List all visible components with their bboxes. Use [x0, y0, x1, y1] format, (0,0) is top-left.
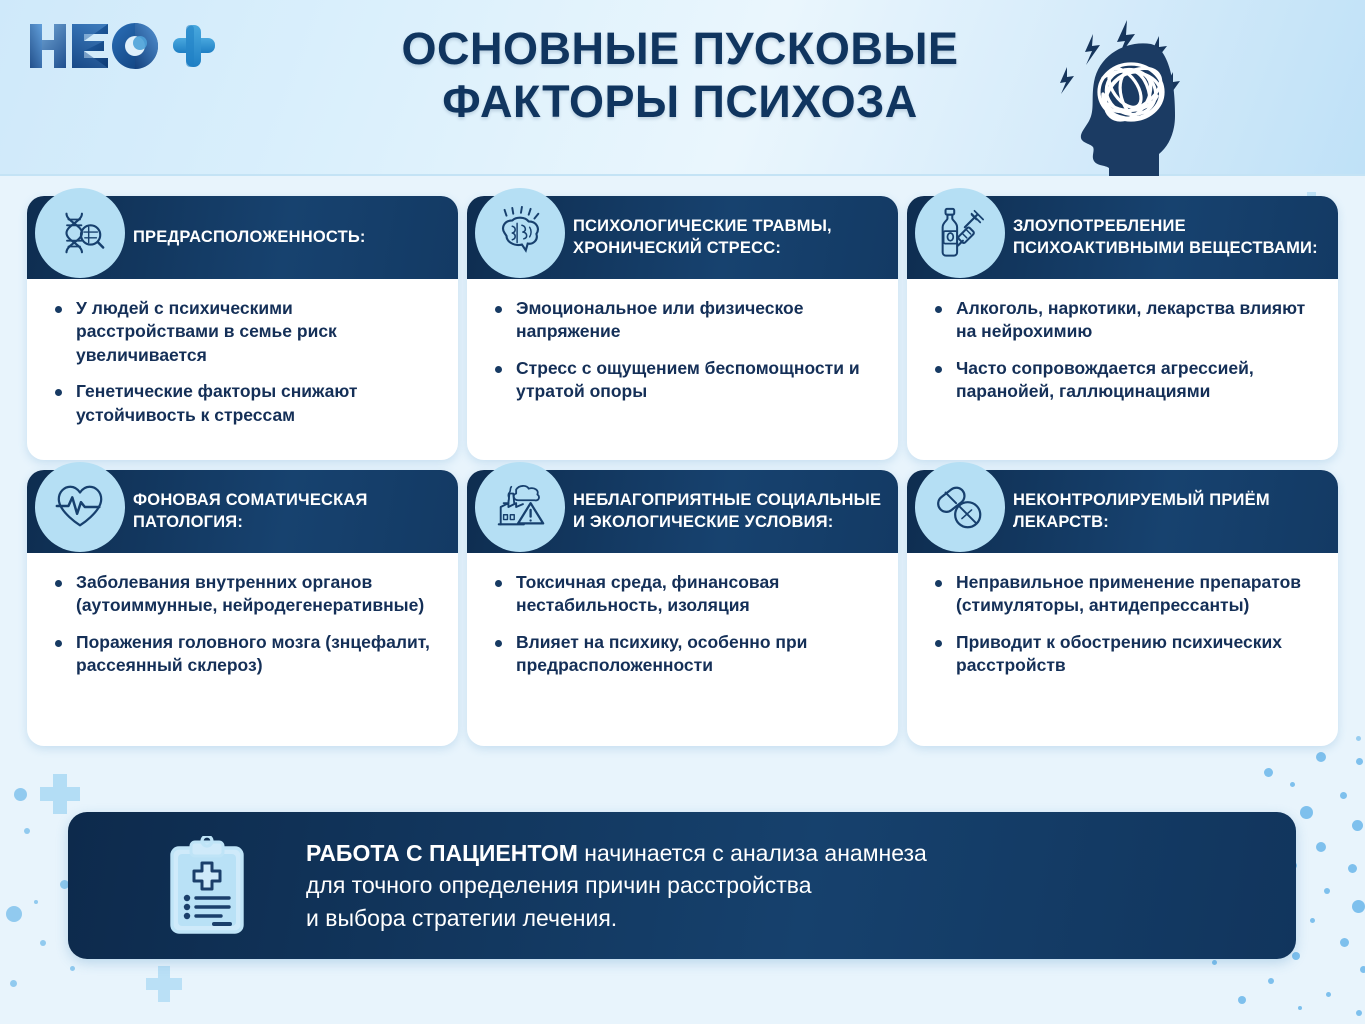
decorative-dot [1352, 900, 1365, 913]
decorative-dot [1324, 888, 1330, 894]
decorative-dot [1316, 842, 1326, 852]
card-title: ПРЕДРАСПОЛОЖЕННОСТЬ: [133, 227, 366, 248]
list-item: Заболевания внутренних органов (аутоимму… [51, 571, 438, 618]
card-body: Токсичная среда, финансовая нестабильнос… [467, 553, 898, 746]
decorative-dot [1298, 1006, 1302, 1010]
card-title: ЗЛОУПОТРЕБЛЕНИЕ ПСИХОАКТИВНЫМИ ВЕЩЕСТВАМ… [1013, 216, 1326, 258]
decorative-dot [1356, 1010, 1362, 1016]
decorative-dot [70, 966, 75, 971]
card-body: Заболевания внутренних органов (аутоимму… [27, 553, 458, 746]
card-title: ПСИХОЛОГИЧЕСКИЕ ТРАВМЫ, ХРОНИЧЕСКИЙ СТРЕ… [573, 216, 886, 258]
card-title: ФОНОВАЯ СОМАТИЧЕСКАЯ ПАТОЛОГИЯ: [133, 490, 446, 532]
list-item: Стресс с ощущением беспомощности и утрат… [491, 357, 878, 404]
list-item: Приводит к обострению психических расстр… [931, 631, 1318, 678]
bullet-list: Неправильное применение препаратов (стим… [931, 571, 1318, 678]
decorative-dot [1290, 782, 1295, 787]
infographic-page: ОСНОВНЫЕ ПУСКОВЫЕ ФАКТОРЫ ПСИХОЗА [0, 0, 1365, 1024]
brand-logo [28, 18, 218, 74]
pills-capsule-icon [915, 462, 1005, 552]
bullet-list: Эмоциональное или физическое напряжение … [491, 297, 878, 404]
decorative-dot [1212, 960, 1217, 965]
factor-card: ПРЕДРАСПОЛОЖЕННОСТЬ: У людей с психическ… [27, 196, 458, 460]
bullet-list: Алкоголь, наркотики, лекарства влияют на… [931, 297, 1318, 404]
banner-line-1: РАБОТА С ПАЦИЕНТОМ начинается с анализа … [306, 837, 927, 870]
decorative-dot [1292, 952, 1300, 960]
heart-pulse-icon [35, 462, 125, 552]
list-item: Токсичная среда, финансовая нестабильнос… [491, 571, 878, 618]
decorative-dot [24, 828, 30, 834]
list-item: Генетические факторы снижают устойчивост… [51, 380, 438, 427]
decorative-dot [62, 792, 68, 798]
page-header: ОСНОВНЫЕ ПУСКОВЫЕ ФАКТОРЫ ПСИХОЗА [0, 0, 1365, 176]
decorative-dot [1316, 752, 1326, 762]
card-body: Неправильное применение препаратов (стим… [907, 553, 1338, 746]
decorative-dot [1264, 768, 1273, 777]
decorative-dot [1310, 918, 1315, 923]
summary-banner: РАБОТА С ПАЦИЕНТОМ начинается с анализа … [68, 812, 1296, 959]
page-title-line-1: ОСНОВНЫЕ ПУСКОВЫЕ [330, 22, 1030, 75]
card-title: НЕБЛАГОПРИЯТНЫЕ СОЦИАЛЬНЫЕ И ЭКОЛОГИЧЕСК… [573, 490, 886, 532]
banner-lead: РАБОТА С ПАЦИЕНТОМ [306, 840, 578, 866]
decorative-dot [34, 900, 38, 904]
factor-card: ЗЛОУПОТРЕБЛЕНИЕ ПСИХОАКТИВНЫМИ ВЕЩЕСТВАМ… [907, 196, 1338, 460]
decorative-dot [1356, 758, 1363, 765]
decorative-dot [14, 788, 27, 801]
bullet-list: Токсичная среда, финансовая нестабильнос… [491, 571, 878, 678]
factor-card: НЕБЛАГОПРИЯТНЫЕ СОЦИАЛЬНЫЕ И ЭКОЛОГИЧЕСК… [467, 470, 898, 746]
banner-rest: начинается с анализа анамнеза [578, 840, 927, 866]
decorative-dot [1268, 978, 1274, 984]
banner-line-2: для точного определения причин расстройс… [306, 869, 927, 902]
card-title: НЕКОНТРОЛИРУЕМЫЙ ПРИЁМ ЛЕКАРСТВ: [1013, 490, 1326, 532]
summary-banner-text: РАБОТА С ПАЦИЕНТОМ начинается с анализа … [306, 837, 927, 935]
bottle-syringe-icon [915, 188, 1005, 278]
list-item: Часто сопровождается агрессией, паранойе… [931, 357, 1318, 404]
decorative-dot [1300, 806, 1313, 819]
factor-card: ФОНОВАЯ СОМАТИЧЕСКАЯ ПАТОЛОГИЯ: Заболева… [27, 470, 458, 746]
factor-card: НЕКОНТРОЛИРУЕМЫЙ ПРИЁМ ЛЕКАРСТВ: Неправи… [907, 470, 1338, 746]
stressed-brain-icon [475, 188, 565, 278]
decorative-dot [1348, 864, 1357, 873]
card-body: Эмоциональное или физическое напряжение … [467, 279, 898, 460]
dna-magnifier-icon [35, 188, 125, 278]
bullet-list: Заболевания внутренних органов (аутоимму… [51, 571, 438, 678]
page-title-line-2: ФАКТОРЫ ПСИХОЗА [330, 75, 1030, 128]
banner-line-3: и выбора стратегии лечения. [306, 902, 927, 935]
decorative-dot [40, 940, 46, 946]
decorative-dot [10, 980, 17, 987]
list-item: Неправильное применение препаратов (стим… [931, 571, 1318, 618]
card-body: Алкоголь, наркотики, лекарства влияют на… [907, 279, 1338, 460]
decorative-cross [146, 978, 182, 990]
decorative-dot [1340, 792, 1347, 799]
list-item: Влияет на психику, особенно при предрасп… [491, 631, 878, 678]
factor-card: ПСИХОЛОГИЧЕСКИЕ ТРАВМЫ, ХРОНИЧЕСКИЙ СТРЕ… [467, 196, 898, 460]
decorative-dot [6, 906, 22, 922]
card-body: У людей с психическими расстройствами в … [27, 279, 458, 460]
factory-warning-icon [475, 462, 565, 552]
list-item: У людей с психическими расстройствами в … [51, 297, 438, 367]
list-item: Поражения головного мозга (знцефалит, ра… [51, 631, 438, 678]
list-item: Эмоциональное или физическое напряжение [491, 297, 878, 344]
decorative-dot [1352, 820, 1363, 831]
factor-cards-grid: ПРЕДРАСПОЛОЖЕННОСТЬ: У людей с психическ… [27, 196, 1338, 746]
bullet-list: У людей с психическими расстройствами в … [51, 297, 438, 427]
decorative-dot [1356, 736, 1361, 741]
head-with-tangled-thoughts-icon [1055, 4, 1245, 176]
decorative-dot [1360, 966, 1365, 973]
page-title: ОСНОВНЫЕ ПУСКОВЫЕ ФАКТОРЫ ПСИХОЗА [330, 22, 1030, 128]
decorative-dot [1238, 996, 1246, 1004]
decorative-dot [1340, 938, 1349, 947]
list-item: Алкоголь, наркотики, лекарства влияют на… [931, 297, 1318, 344]
decorative-dot [1326, 992, 1331, 997]
decorative-cross [40, 787, 80, 801]
clipboard-medical-icon [164, 836, 250, 936]
